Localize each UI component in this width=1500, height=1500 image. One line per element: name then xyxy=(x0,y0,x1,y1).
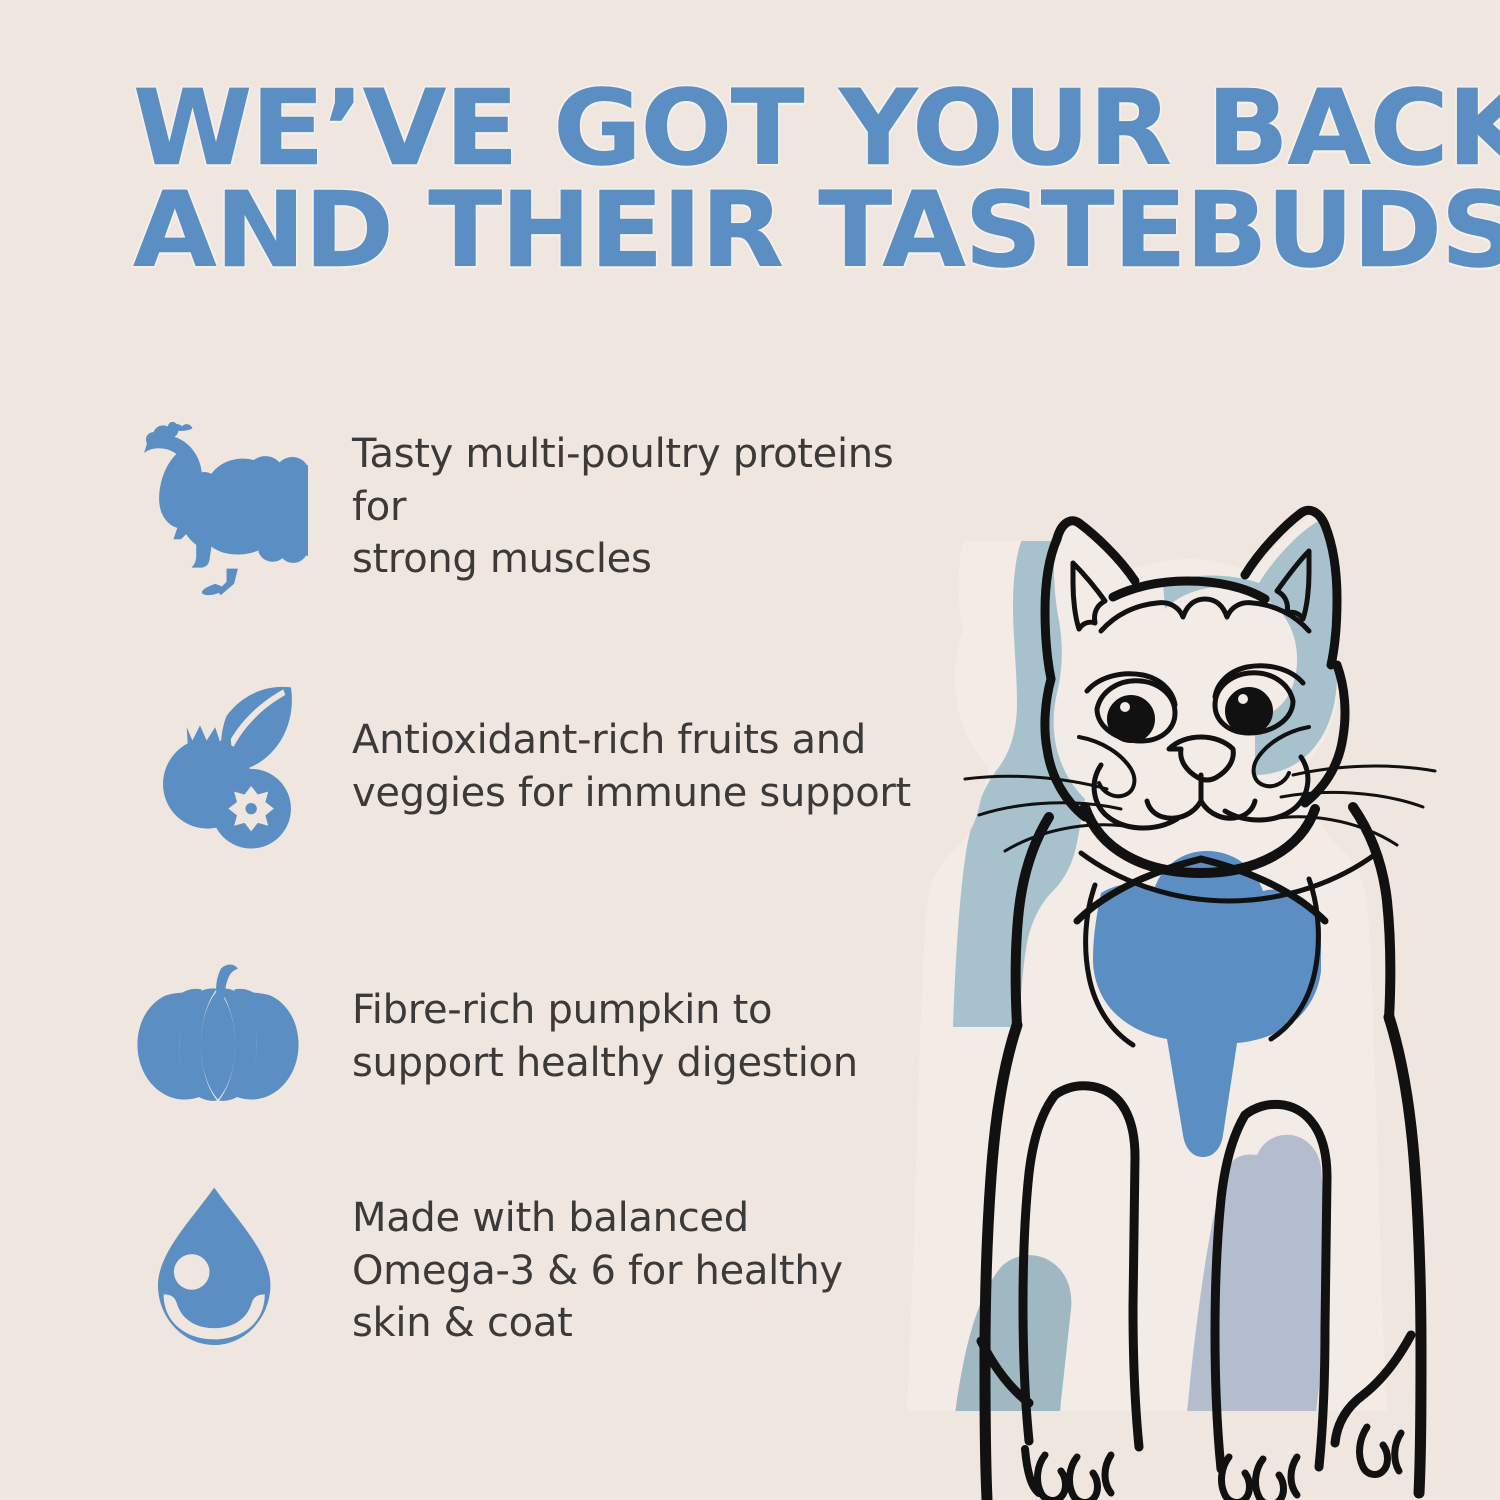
benefit-item-poultry: Tasty multi-poultry proteins for strong … xyxy=(128,412,952,602)
cat-line-art-illustration xyxy=(905,455,1500,1500)
benefit-item-omega: Made with balanced Omega-3 & 6 for healt… xyxy=(128,1176,843,1366)
benefit-text: Made with balanced Omega-3 & 6 for healt… xyxy=(352,1192,843,1350)
benefit-item-berries: Antioxidant-rich fruits and veggies for … xyxy=(128,672,911,862)
benefit-text: Tasty multi-poultry proteins for strong … xyxy=(352,428,952,586)
headline-line-2: AND THEIR TASTEBUDS. xyxy=(133,180,1475,282)
infographic-canvas: WE’VE GOT YOUR BACK. AND THEIR TASTEBUDS… xyxy=(0,0,1500,1500)
oil-droplet-icon xyxy=(128,1176,318,1366)
headline-line-1: WE’VE GOT YOUR BACK. xyxy=(133,78,1475,180)
benefit-item-pumpkin: Fibre-rich pumpkin to support healthy di… xyxy=(128,942,858,1132)
pumpkin-icon xyxy=(128,942,318,1132)
poultry-icon xyxy=(128,412,318,602)
benefit-text: Fibre-rich pumpkin to support healthy di… xyxy=(352,984,858,1090)
page-title: WE’VE GOT YOUR BACK. AND THEIR TASTEBUDS… xyxy=(133,78,1423,282)
berries-icon xyxy=(128,672,318,862)
benefit-text: Antioxidant-rich fruits and veggies for … xyxy=(352,714,911,820)
